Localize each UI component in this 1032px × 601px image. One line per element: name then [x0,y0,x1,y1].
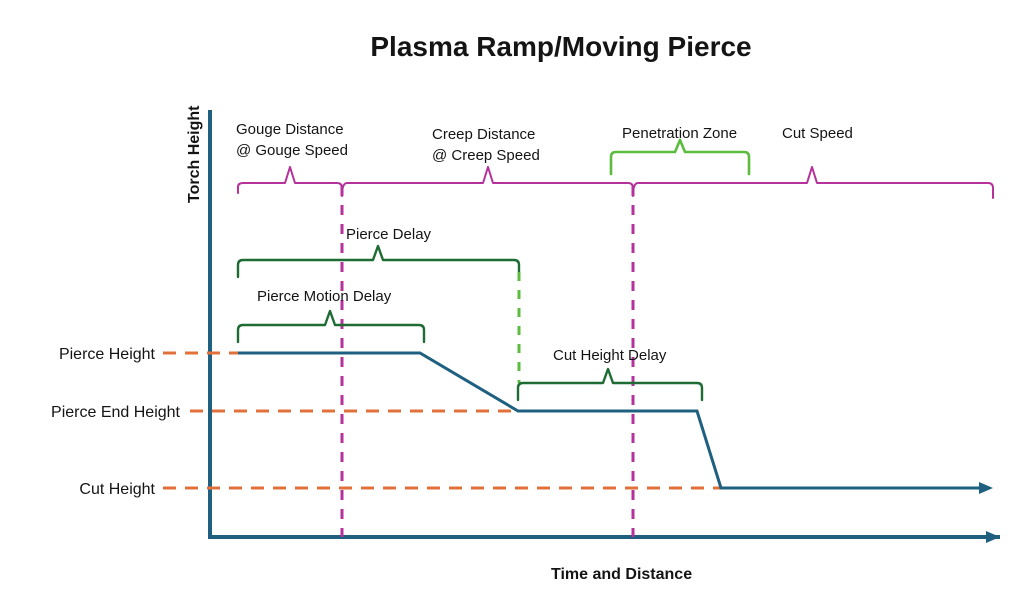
pierce-delay-label: Pierce Delay [346,226,432,243]
page-title: Plasma Ramp/Moving Pierce [370,31,751,62]
pierce-motion-delay-label: Pierce Motion Delay [257,288,392,305]
profile-arrowhead [979,482,993,494]
pierce-motion-delay-bracket [238,311,424,342]
torch-height-profile [238,353,986,488]
speed-zone-bracket [238,167,993,198]
gouge-distance-label-line2: @ Gouge Speed [236,142,348,159]
pierce-height-label: Pierce Height [59,346,156,363]
pierce-end-height-label: Pierce End Height [51,404,181,421]
x-axis-label: Time and Distance [551,566,692,583]
creep-distance-label-line2: @ Creep Speed [432,147,540,164]
pierce-delay-bracket [238,246,519,277]
x-axis-arrowhead [986,531,1000,543]
cut-height-label: Cut Height [79,481,155,498]
creep-distance-label-line1: Creep Distance [432,126,535,143]
cut-height-delay-label: Cut Height Delay [553,347,667,364]
gouge-distance-label-line1: Gouge Distance [236,121,344,138]
penetration-zone-bracket [611,140,749,174]
cut-height-delay-bracket [518,369,702,400]
plasma-ramp-diagram: Plasma Ramp/Moving Pierce Torch Height T… [0,0,1032,596]
y-axis-label: Torch Height [186,105,203,203]
diagram-svg: Plasma Ramp/Moving Pierce Torch Height T… [0,0,1032,596]
cut-speed-label: Cut Speed [782,125,853,142]
